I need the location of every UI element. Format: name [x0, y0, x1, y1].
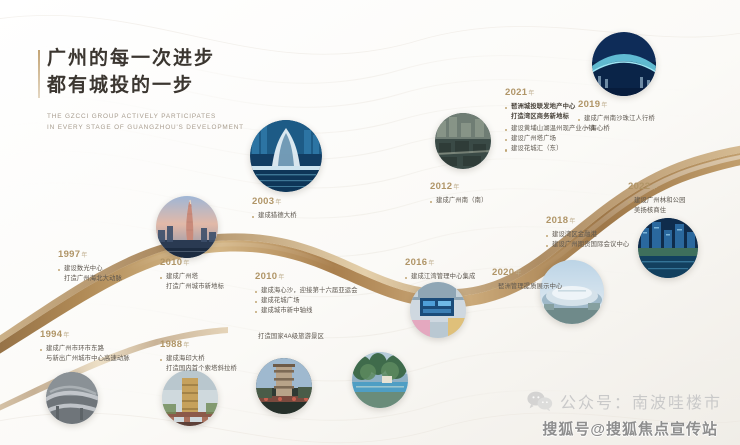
node-line: 建成海心沙，迎接第十六届亚运会: [255, 286, 358, 296]
node-year-n9: 2020年: [492, 268, 562, 278]
node-text-n4: 2010年 建成海心沙，迎接第十六届亚运会 建成花城广场 建成城市新中轴线: [255, 272, 358, 316]
node-line: 打造广州城市新地标: [160, 282, 224, 292]
node-text-n3: 2003年 建成猎德大桥: [252, 197, 297, 221]
node-line: 美扬核商住: [628, 206, 686, 216]
wechat-icon: [527, 390, 553, 412]
node-line: 打造国内首个索塔斜拉桥: [160, 364, 237, 374]
node-photo-exhibition-interior[interactable]: [410, 282, 466, 338]
poster-canvas: 广州的每一次进步 都有城投的一步 THE GZCCI GROUP ACTIVEL…: [0, 0, 740, 445]
node-line: 建成江湾管理中心集成: [405, 272, 475, 282]
node-text-n5: 1994年 建成广州市环市东路 与新出广州城市中心高速动脉: [40, 330, 130, 364]
node-line: 琶洲城投联发地产中心: [505, 102, 595, 112]
elevated-highway-photo: [46, 372, 98, 424]
node-year-n13: 2022年: [628, 182, 686, 192]
node-line: 建成猎德大桥: [252, 211, 297, 221]
wechat-watermark-text: 公众号：南波哇楼市: [560, 389, 722, 413]
node-line: 建设广州期货国际会议中心: [546, 240, 629, 250]
node-text-n10: 2018年 建设湾区金融港 建设广州期货国际会议中心: [546, 216, 629, 250]
node-text-n8: 2012年 建成广州南（南）: [430, 182, 488, 206]
node-line: 打造广州海北大动脉: [58, 274, 122, 284]
node-text-n1: 1997年 建设数光中心 打造广州海北大动脉: [58, 250, 122, 284]
node-line: 建成广州南（南）: [430, 196, 488, 206]
node-line: 建成城市新中轴线: [255, 306, 358, 316]
node-year-n1: 1997年: [58, 250, 122, 260]
aerial-district-photo: [435, 113, 491, 169]
node-year-n2: 2010年: [160, 258, 224, 268]
node-year-n10: 2018年: [546, 216, 629, 226]
node-photo-pearl-river-bridge[interactable]: [592, 32, 656, 96]
node-text-n2: 2010年 建成广州塔 打造广州城市新地标: [160, 258, 224, 292]
node-photo-aerial-district[interactable]: [435, 113, 491, 169]
headline-english-1: THE GZCCI GROUP ACTIVELY PARTICIPATES: [47, 111, 244, 122]
node-line: 建设广州塔广场: [505, 134, 595, 144]
node-line: 建成广州塔: [160, 272, 224, 282]
node-year-n7: 2016年: [405, 258, 475, 268]
node-line: 建设黄埔山湖温州现产业小镇: [505, 124, 595, 134]
haiyin-bridge-photo: [162, 370, 218, 426]
node-line: 建设数光中心: [58, 264, 122, 274]
node-text-n11: 2021年 琶洲城投联发地产中心 打造湾区商务新地标 建设黄埔山湖温州现产业小镇…: [505, 88, 595, 154]
headline-block: 广州的每一次进步 都有城投的一步 THE GZCCI GROUP ACTIVEL…: [47, 46, 244, 133]
node-year-n8: 2012年: [430, 182, 488, 192]
node-line: 建设广州林和公园: [628, 196, 686, 206]
node-photo-canton-tower[interactable]: [156, 196, 218, 258]
canton-tower-photo: [156, 196, 218, 258]
node-text-n9: 2020年 琶洲管理提质展示中心: [492, 268, 562, 292]
node-line: 琶洲管理提质展示中心: [492, 282, 562, 292]
headline-accent-rule: [38, 50, 40, 98]
node-text-n13: 2022年 建设广州林和公园 美扬核商住: [628, 182, 686, 216]
node-photo-riverside-park[interactable]: [352, 352, 408, 408]
node-text-n6: 1988年 建成海印大桥 打造国内首个索塔斜拉桥: [160, 340, 237, 374]
node-year-n3: 2003年: [252, 197, 297, 207]
node-photo-haiyin-bridge[interactable]: [162, 370, 218, 426]
node-line: 打造国家4A级旅游景区: [258, 332, 324, 342]
node-photo-elevated-highway[interactable]: [46, 372, 98, 424]
liede-bridge-photo: [250, 120, 322, 192]
node-year-n5: 1994年: [40, 330, 130, 340]
zhenhai-tower-photo: [256, 358, 312, 414]
headline-english-2: IN EVERY STAGE OF GUANGZHOU'S DEVELOPMEN…: [47, 122, 244, 133]
node-year-n11: 2021年: [505, 88, 595, 98]
node-year-n6: 1988年: [160, 340, 237, 350]
headline-line-1: 广州的每一次进步: [47, 46, 244, 73]
node-photo-linhe-park[interactable]: [638, 218, 698, 278]
node-line: 打造湾区商务新地标: [505, 112, 595, 122]
sohu-watermark: 搜狐号@搜狐焦点宣传站: [542, 418, 718, 439]
node-line: 建设湾区金融港: [546, 230, 629, 240]
node-text-n14: 打造国家4A级旅游景区: [258, 332, 324, 342]
node-year-n4: 2010年: [255, 272, 358, 282]
node-line: 建成花城广场: [255, 296, 358, 306]
node-text-n7: 2016年 建成江湾管理中心集成: [405, 258, 475, 282]
headline-line-2: 都有城投的一步: [47, 73, 244, 100]
wechat-watermark: 公众号：南波哇楼市: [527, 389, 722, 413]
node-photo-zhenhai-tower[interactable]: [256, 358, 312, 414]
node-line: 与新出广州城市中心高速动脉: [40, 354, 130, 364]
node-line: 建成广州市环市东路: [40, 344, 130, 354]
node-line: 建成海印大桥: [160, 354, 237, 364]
exhibition-interior-photo: [410, 282, 466, 338]
node-photo-liede-bridge[interactable]: [250, 120, 322, 192]
riverside-park-photo: [352, 352, 408, 408]
linhe-park-photo: [638, 218, 698, 278]
node-line: 建设花城汇（东）: [505, 144, 595, 154]
pearl-river-bridge-photo: [592, 32, 656, 96]
